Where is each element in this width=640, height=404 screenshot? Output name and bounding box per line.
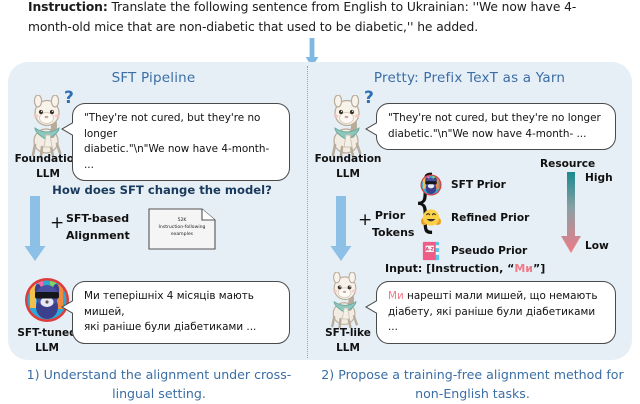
input-token: Ми xyxy=(514,262,533,275)
input-prefix: Input: [Instruction, “ xyxy=(385,262,514,275)
prior-label: Pseudo Prior xyxy=(451,245,527,257)
pipeline-arrow-right-icon xyxy=(330,196,352,267)
highlighted-token: Ми xyxy=(388,290,404,302)
foundation-llm-label-right: Foundation LLM xyxy=(302,152,394,182)
resource-high-label: High xyxy=(585,172,613,184)
plus-sign-left: + xyxy=(50,213,64,233)
instruction-label: Instruction: xyxy=(28,0,108,14)
prior-label: Refined Prior xyxy=(451,212,529,224)
prior-tokens-label: Prior Tokens xyxy=(372,207,408,241)
figure-root: Instruction: Translate the following sen… xyxy=(0,0,640,404)
llama-avatar xyxy=(322,272,368,328)
input-line: Input: [Instruction, “Ми”] xyxy=(385,262,545,275)
bubble-tail-fill xyxy=(367,122,379,136)
caption-right: 2) Propose a training-free alignment met… xyxy=(320,365,625,403)
bubble-tail-fill xyxy=(367,300,379,314)
prior-label: SFT Prior xyxy=(451,179,506,191)
bubble-tail-fill xyxy=(63,300,75,314)
hugging-face-icon xyxy=(420,207,442,229)
resource-low-label: Low xyxy=(585,240,609,252)
sft-tuned-output-bubble: Ми теперішніх 4 місяців мають мишей, які… xyxy=(72,281,290,344)
question-mark-icon: ? xyxy=(364,88,374,108)
left-panel-title: SFT Pipeline xyxy=(0,70,307,86)
caption-left: 1) Understand the alignment under cross-… xyxy=(14,365,304,403)
question-mark-icon: ? xyxy=(64,88,74,108)
instruction-body: Translate the following sentence from En… xyxy=(28,0,576,34)
foundation-output-bubble-right: "They're not cured, but they're no longe… xyxy=(376,103,616,150)
bubble-tail-fill xyxy=(63,122,75,136)
panel-divider xyxy=(307,66,308,358)
instruction-text: Instruction: Translate the following sen… xyxy=(28,0,618,37)
document-icon: 52K Instruction-following examples xyxy=(148,208,216,250)
resource-title: Resource xyxy=(540,158,595,170)
prior-item-sft: SFT Prior xyxy=(420,174,506,196)
party-llama-icon xyxy=(420,174,442,196)
prior-item-refined: Refined Prior xyxy=(420,207,529,229)
sft-like-output-bubble: Ми нарешті мали мишей, що немають діабет… xyxy=(376,281,616,344)
sft-alignment-label: SFT-based Alignment xyxy=(66,210,130,244)
dictionary-book-icon: A-Z xyxy=(420,240,442,262)
document-card-text: 52K Instruction-following examples xyxy=(148,217,216,238)
svg-text:A-Z: A-Z xyxy=(426,247,434,253)
pipeline-arrow-left-icon xyxy=(24,196,46,267)
sft-question-text: How does SFT change the model? xyxy=(42,183,282,197)
gradient-arrow-icon xyxy=(560,172,582,259)
foundation-output-bubble: "They're not cured, but they're no longe… xyxy=(72,103,290,181)
right-panel-title: Pretty: Prefix TexT as a Yarn xyxy=(307,70,632,86)
prior-item-pseudo: A-Z Pseudo Prior xyxy=(420,240,527,262)
plus-sign-right: + xyxy=(358,210,372,230)
bubble-line-1: Ми нарешті мали мишей, що немають xyxy=(388,289,604,305)
input-suffix: ”] xyxy=(533,262,545,275)
